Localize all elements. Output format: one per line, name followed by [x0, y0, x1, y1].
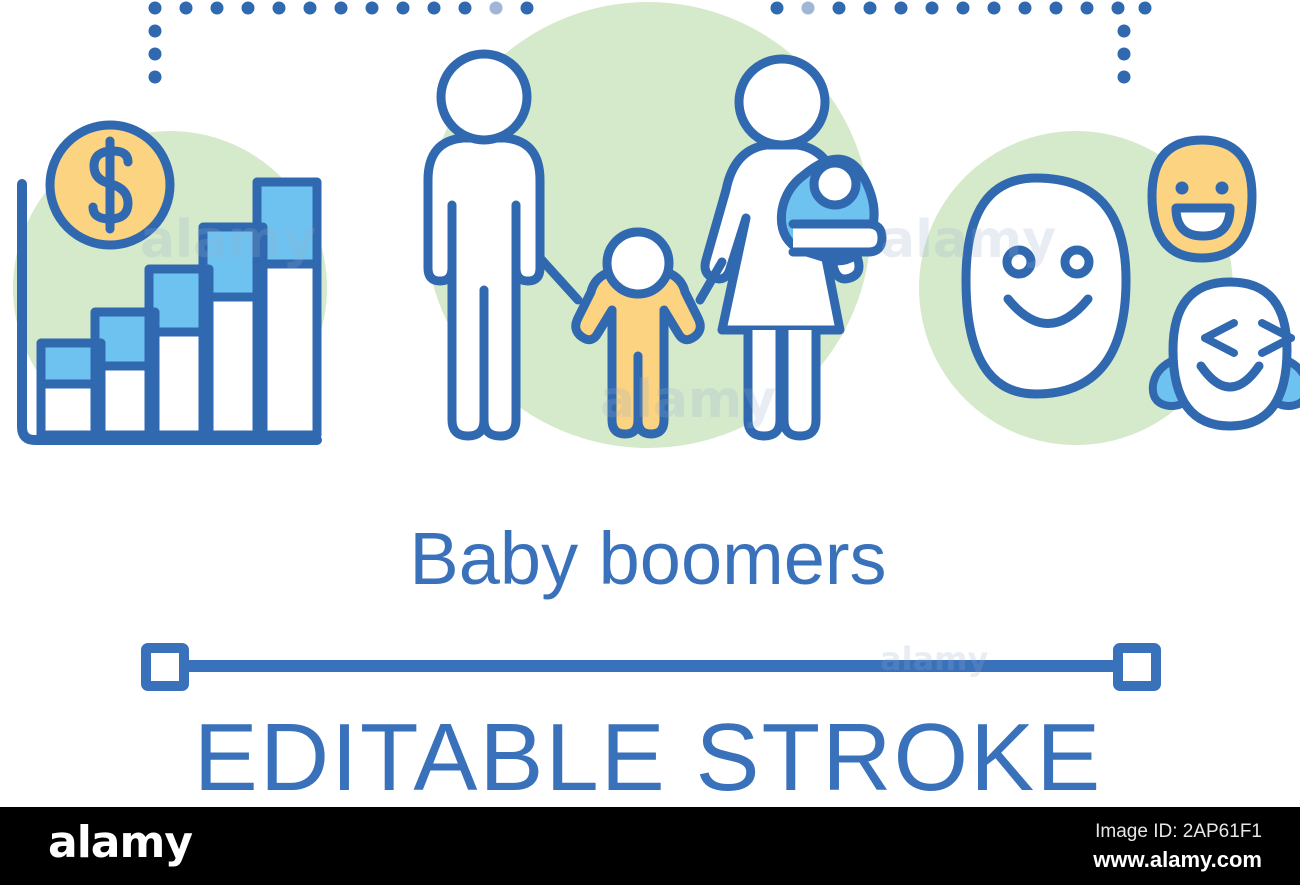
slider-handle-left[interactable]: [146, 648, 184, 686]
illustration-canvas: Baby boomers EDITABLE STROKE alamy alamy…: [0, 0, 1300, 885]
smiley-eye-left: [1007, 250, 1031, 274]
grin-mouth: [1176, 208, 1230, 236]
editable-stroke-slider[interactable]: [146, 648, 1156, 686]
grinning-face-icon: [1152, 140, 1252, 258]
alamy-url: www.alamy.com: [1093, 847, 1262, 872]
alamy-watermark-band: alamy Image ID: 2AP61F1 www.alamy.com: [0, 807, 1300, 885]
baby-head: [814, 163, 856, 205]
grin-eye-left: [1176, 182, 1189, 195]
grin-eye-right: [1216, 182, 1229, 195]
illustration-subtitle: EDITABLE STROKE: [194, 704, 1102, 811]
dollar-coin-icon: [50, 125, 170, 245]
smiling-face-icon: [966, 178, 1126, 394]
concept-illustration: Baby boomers EDITABLE STROKE: [0, 0, 1300, 885]
slider-handle-right[interactable]: [1118, 648, 1156, 686]
illustration-title: Baby boomers: [409, 517, 886, 600]
image-id-label: Image ID: 2AP61F1: [1095, 821, 1262, 843]
child-head: [607, 232, 669, 294]
smiley-eye-right: [1065, 250, 1089, 274]
alamy-logo: alamy: [48, 821, 192, 865]
